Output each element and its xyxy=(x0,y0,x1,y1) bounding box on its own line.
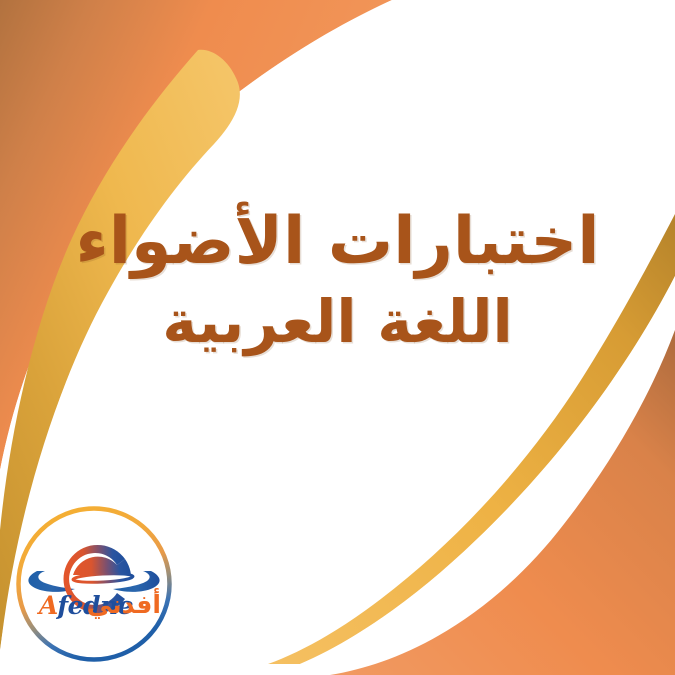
title-line-2: اللغة العربية xyxy=(0,291,675,354)
afedne-logo[interactable]: Afedne أفدني xyxy=(13,503,175,665)
title-line-1: اختبارات الأضواء xyxy=(0,208,675,277)
page-title: اختبارات الأضواء اللغة العربية xyxy=(0,208,675,353)
book-cover: اختبارات الأضواء اللغة العربية xyxy=(0,0,675,675)
logo-graphic xyxy=(13,503,175,665)
